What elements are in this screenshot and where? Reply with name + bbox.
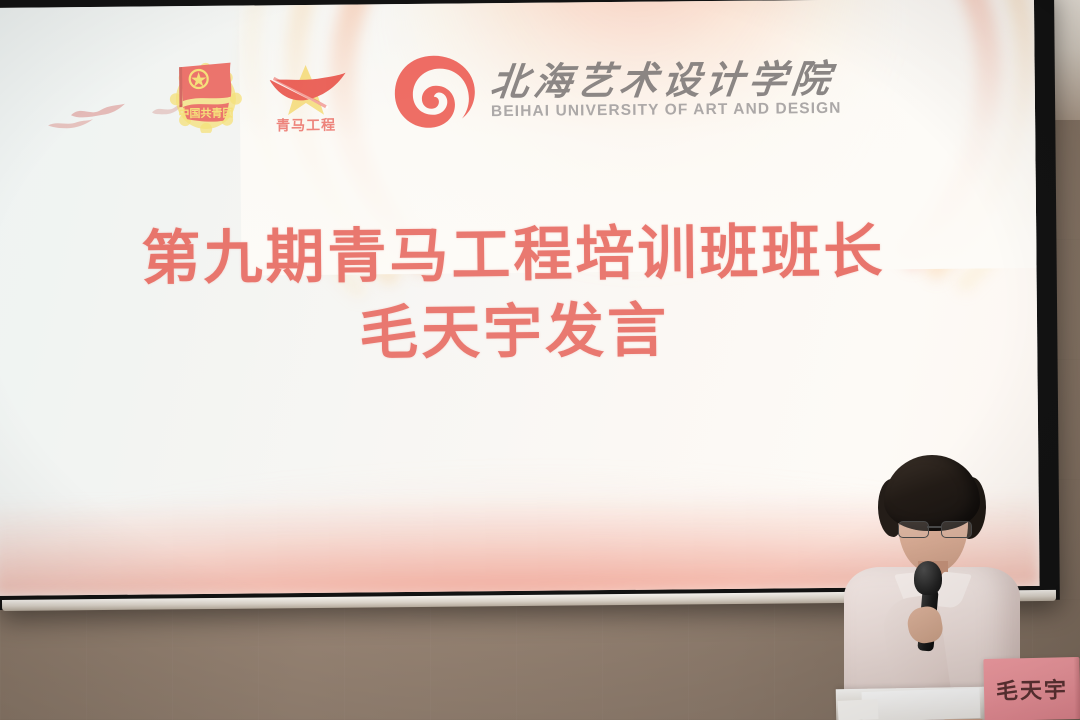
microphone-head (914, 561, 942, 595)
eyeglasses (896, 521, 972, 537)
slide-logo-bar: 中国共青团 青马工程 (168, 48, 841, 134)
name-placard-text: 毛天宇 (996, 679, 1068, 703)
photo-scene: 中国共青团 青马工程 (0, 0, 1080, 720)
slide-title: 第九期青马工程培训班班长 毛天宇发言 (0, 212, 1037, 375)
university-name-group: 北海艺术设计学院 BEIHAI UNIVERSITY OF ART AND DE… (491, 59, 842, 120)
glasses-bridge (927, 526, 941, 528)
slide-title-line-2: 毛天宇发言 (0, 289, 1037, 376)
svg-text:中国共青团: 中国共青团 (178, 106, 233, 121)
name-placard-edge (1073, 657, 1080, 719)
slide-title-line-1: 第九期青马工程培训班班长 (0, 212, 1037, 299)
speech-paper (862, 688, 981, 720)
qingma-project-label: 青马工程 (276, 118, 336, 133)
speech-paper-secondary (838, 699, 879, 720)
bird-icon (47, 117, 95, 131)
university-name-cn: 北海艺术设计学院 (488, 59, 843, 102)
star-sail-icon (264, 64, 348, 117)
qingma-project-logo: 青马工程 (260, 54, 351, 133)
beihai-swirl-logo (390, 51, 477, 132)
university-logo-block: 北海艺术设计学院 BEIHAI UNIVERSITY OF ART AND DE… (390, 48, 841, 132)
communist-youth-league-emblem: 中国共青团 (168, 55, 243, 134)
university-name-en: BEIHAI UNIVERSITY OF ART AND DESIGN (491, 101, 842, 120)
lens-left (898, 521, 929, 538)
name-placard: 毛天宇 (983, 657, 1080, 720)
speaker-hair (884, 455, 980, 531)
lens-right (941, 521, 972, 538)
